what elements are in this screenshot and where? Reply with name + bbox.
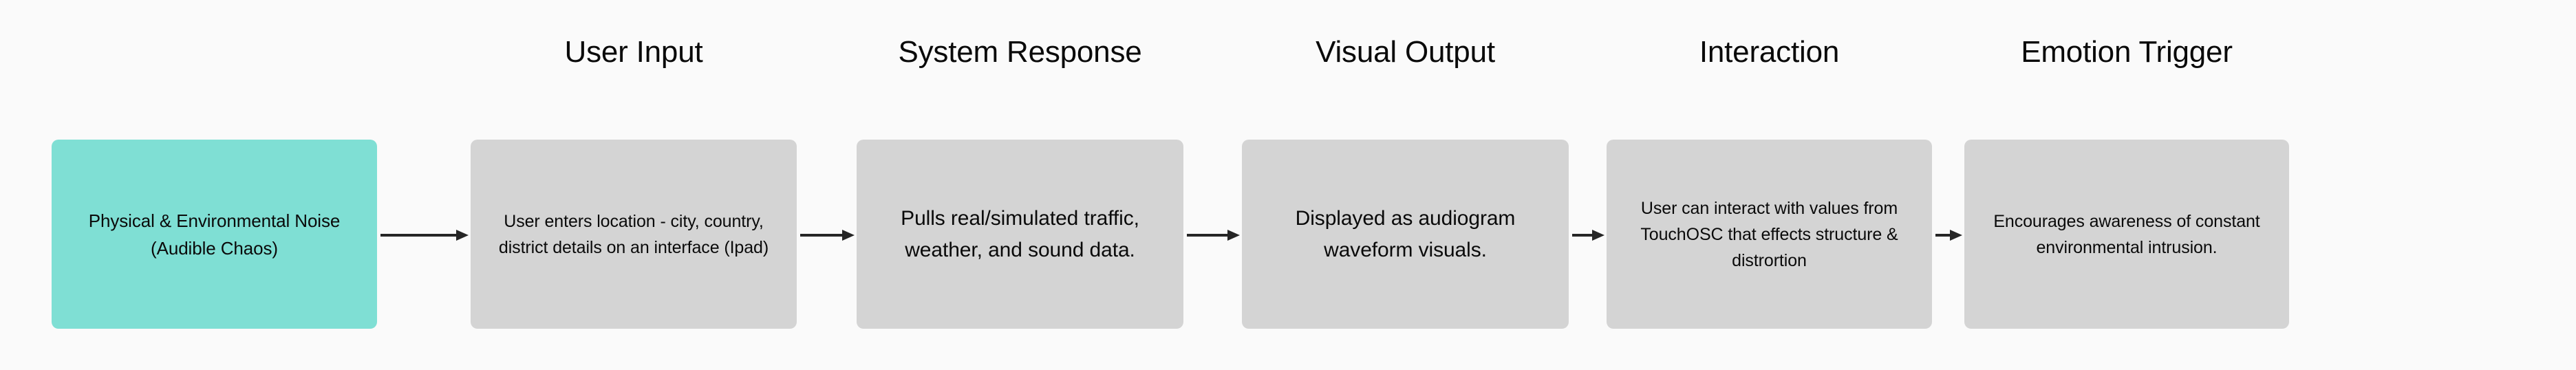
- node-user-input[interactable]: User enters location - city, country, di…: [471, 140, 797, 329]
- node-source[interactable]: Physical & Environmental Noise (Audible …: [52, 140, 377, 329]
- node-interaction[interactable]: User can interact with values from Touch…: [1607, 140, 1932, 329]
- flow-column-visual-output: Visual Output Displayed as audiogram wav…: [1242, 0, 1569, 370]
- node-visual-output-label: Displayed as audiogram waveform visuals.: [1292, 203, 1519, 266]
- flow-column-interaction: Interaction User can interact with value…: [1607, 0, 1932, 370]
- arrow-system-response-to-visual-output: [1187, 230, 1240, 241]
- column-header-visual-output: Visual Output: [1242, 33, 1569, 72]
- node-emotion-trigger-label: Encourages awareness of constant environ…: [1989, 208, 2264, 261]
- node-user-input-label: User enters location - city, country, di…: [483, 208, 784, 261]
- node-emotion-trigger[interactable]: Encourages awareness of constant environ…: [1964, 140, 2289, 329]
- flow-column-user-input: User Input User enters location - city, …: [471, 0, 797, 370]
- arrow-head-icon: [1950, 230, 1962, 241]
- arrow-shaft: [1187, 234, 1229, 237]
- column-header-system-response: System Response: [857, 33, 1183, 72]
- node-source-label: Physical & Environmental Noise (Audible …: [64, 207, 365, 262]
- arrow-shaft: [1935, 234, 1951, 237]
- flowchart-canvas: Physical & Environmental Noise (Audible …: [0, 0, 2576, 370]
- column-header-emotion-trigger: Emotion Trigger: [1964, 33, 2289, 72]
- arrow-head-icon: [1592, 230, 1604, 241]
- arrow-shaft: [1572, 234, 1593, 237]
- column-header-interaction: Interaction: [1607, 33, 1932, 72]
- node-system-response-label: Pulls real/simulated traffic, weather, a…: [869, 203, 1171, 266]
- node-system-response[interactable]: Pulls real/simulated traffic, weather, a…: [857, 140, 1183, 329]
- arrow-head-icon: [456, 230, 469, 241]
- node-visual-output[interactable]: Displayed as audiogram waveform visuals.: [1242, 140, 1569, 329]
- flow-column-emotion-trigger: Emotion Trigger Encourages awareness of …: [1964, 0, 2289, 370]
- arrow-head-icon: [1227, 230, 1240, 241]
- flow-column-source: Physical & Environmental Noise (Audible …: [52, 0, 377, 370]
- arrow-user-input-to-system-response: [800, 230, 855, 241]
- arrow-visual-output-to-interaction: [1572, 230, 1604, 241]
- arrow-shaft: [800, 234, 844, 237]
- arrow-shaft: [380, 234, 458, 237]
- column-header-user-input: User Input: [471, 33, 797, 72]
- node-interaction-label: User can interact with values from Touch…: [1619, 195, 1920, 274]
- arrow-interaction-to-emotion-trigger: [1935, 230, 1962, 241]
- arrow-source-to-user-input: [380, 230, 469, 241]
- arrow-head-icon: [842, 230, 855, 241]
- flow-column-system-response: System Response Pulls real/simulated tra…: [857, 0, 1183, 370]
